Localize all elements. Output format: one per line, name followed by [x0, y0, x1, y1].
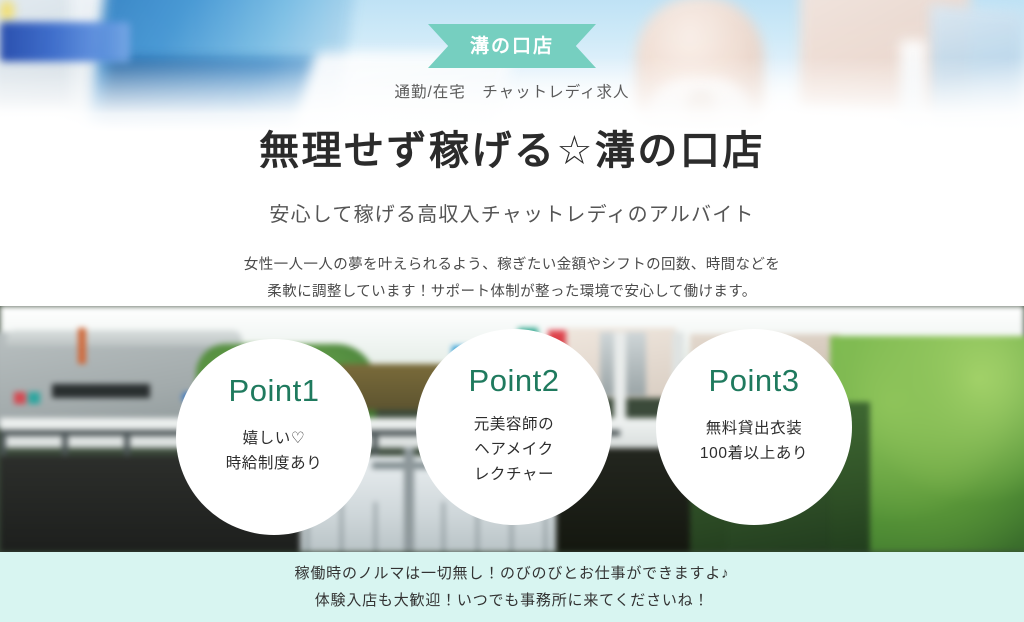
- page-title: 無理せず稼げる☆溝の口店: [0, 126, 1024, 176]
- street-pole-orange: [78, 328, 86, 364]
- point-card-3-text: 無料貸出衣装 100着以上あり: [700, 416, 808, 466]
- point-card-3: Point3 無料貸出衣装 100着以上あり: [656, 329, 852, 525]
- point-card-2-line-3: レクチャー: [474, 462, 555, 487]
- point-card-1-line-2: 時給制度あり: [226, 451, 323, 476]
- street-pylon: [404, 448, 414, 552]
- hero-eyebrow: 通勤/在宅 チャットレディ求人: [0, 82, 1024, 104]
- point-card-2-text: 元美容師の ヘアメイク レクチャー: [474, 412, 555, 487]
- point-card-1-title: Point1: [229, 375, 320, 406]
- point-card-2: Point2 元美容師の ヘアメイク レクチャー: [416, 329, 612, 525]
- point-card-3-title: Point3: [709, 365, 800, 396]
- street-building-left-roof: [6, 330, 242, 346]
- footer-message-band: 稼働時のノルマは一切無し！のびのびとお仕事ができますよ♪ 体験入店も大歓迎！いつ…: [0, 552, 1024, 622]
- point-card-1-text: 嬉しい♡ 時給制度あり: [226, 426, 323, 476]
- street-sign-teal: [28, 392, 40, 404]
- point-card-2-line-2: ヘアメイク: [474, 437, 555, 462]
- hero-lead-line-1: 女性一人一人の夢を叶えられるよう、稼ぎたい金額やシフトの回数、時間などを: [0, 252, 1024, 279]
- point-card-1: Point1 嬉しい♡ 時給制度あり: [176, 339, 372, 535]
- hero-lead-line-2: 柔軟に調整しています！サポート体制が整った環境で安心して働けます。: [0, 279, 1024, 306]
- street-sign-red: [14, 392, 26, 404]
- point-card-3-line-1: 無料貸出衣装: [700, 416, 808, 441]
- hero-subheading: 安心して稼げる高収入チャットレディのアルバイト: [0, 202, 1024, 228]
- point-card-3-line-2: 100着以上あり: [700, 441, 808, 466]
- hero-lead-paragraph: 女性一人一人の夢を叶えられるよう、稼ぎたい金額やシフトの回数、時間などを 柔軟に…: [0, 252, 1024, 306]
- hero-text-block: 通勤/在宅 チャットレディ求人 無理せず稼げる☆溝の口店 安心して稼げる高収入チ…: [0, 0, 1024, 306]
- footer-line-2: 体験入店も大歓迎！いつでも事務所に来てくださいね！: [315, 587, 710, 614]
- point-card-1-line-1: 嬉しい♡: [226, 426, 323, 451]
- landing-page: 溝の口店 通勤/在宅 チャットレディ求人 無理せず稼げる☆溝の口店 安心して稼げ…: [0, 0, 1024, 622]
- footer-line-1: 稼働時のノルマは一切無し！のびのびとお仕事ができますよ♪: [295, 560, 730, 587]
- point-card-2-title: Point2: [469, 365, 560, 396]
- street-window-dark: [52, 384, 150, 398]
- point-card-2-line-1: 元美容師の: [474, 412, 555, 437]
